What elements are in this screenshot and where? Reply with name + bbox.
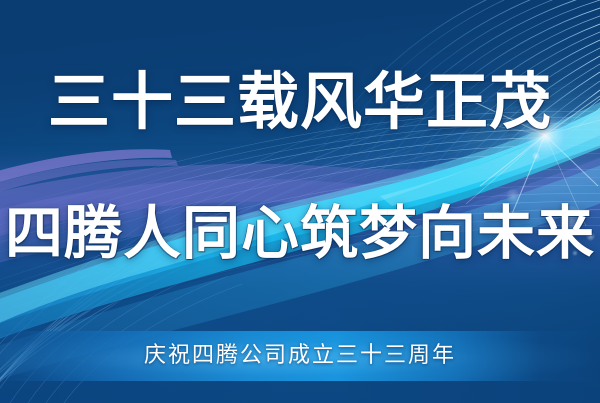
subtitle-text: 庆祝四腾公司成立三十三周年 xyxy=(0,340,600,372)
bokeh-circle xyxy=(506,188,520,204)
bokeh-circle xyxy=(586,232,595,241)
bokeh-circle xyxy=(532,152,540,160)
bokeh-circle xyxy=(560,206,582,234)
lens-flare-glow xyxy=(516,106,574,164)
anniversary-banner: 三十三载风华正茂 四腾人同心筑梦向未来 庆祝四腾公司成立三十三周年 xyxy=(0,0,600,403)
bokeh-circle xyxy=(572,250,578,256)
